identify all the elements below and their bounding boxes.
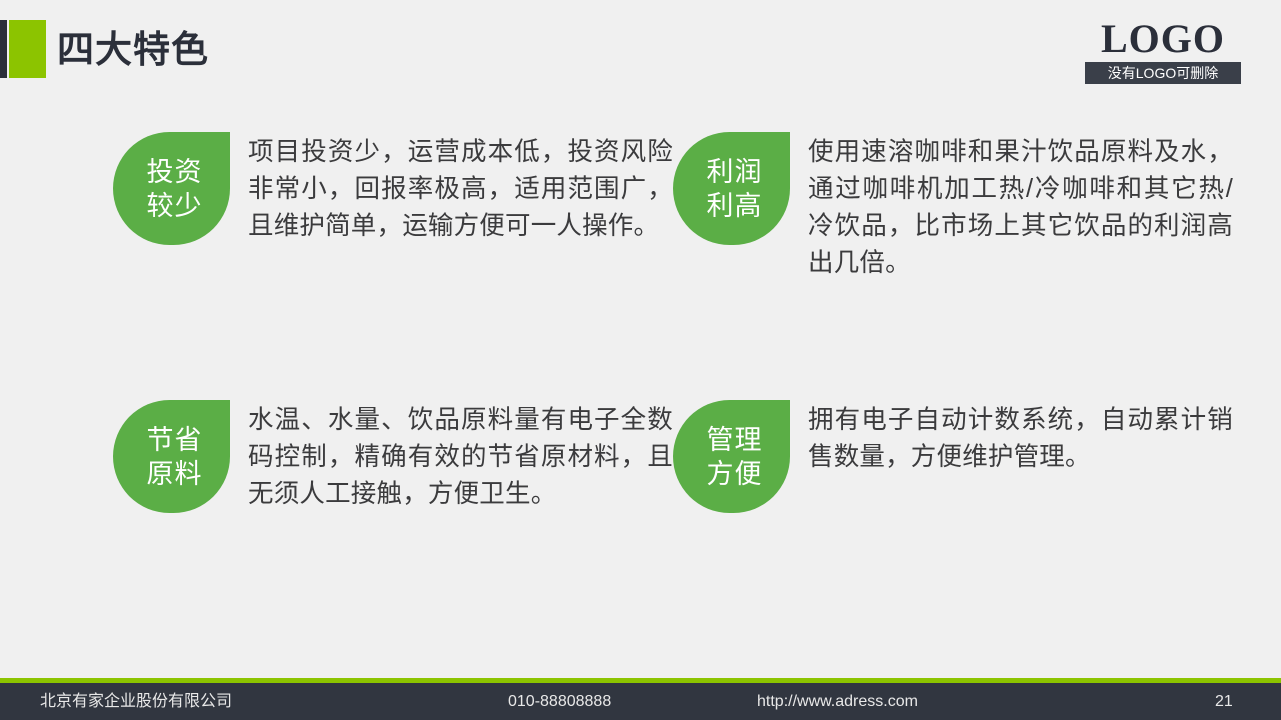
feature-description: 拥有电子自动计数系统，自动累计销售数量，方便维护管理。 [808,402,1233,476]
feature-grid: 投资 较少 项目投资少，运营成本低，投资风险非常小，回报率极高，适用范围广，且维… [0,118,1281,638]
logo-subtitle-badge: 没有LOGO可删除 [1085,62,1241,84]
logo-wordmark: LOGO [1085,18,1241,60]
title-green-accent-block [9,20,46,78]
feature-badge: 管理 方便 [673,400,790,513]
feature-description: 水温、水量、饮品原料量有电子全数码控制，精确有效的节省原材料，且无须人工接触，方… [248,402,673,513]
feature-badge: 利润 利高 [673,132,790,245]
feature-badge-line-2: 较少 [147,189,203,223]
footer-website-url[interactable]: http://www.adress.com [757,683,918,720]
slide-footer: 北京有家企业股份有限公司 010-88808888 http://www.adr… [0,678,1281,720]
feature-badge-line-1: 利润 [707,155,763,189]
footer-phone-number: 010-88808888 [508,683,611,720]
feature-badge: 投资 较少 [113,132,230,245]
slide-root: 四大特色 LOGO 没有LOGO可删除 投资 较少 项目投资少，运营成本低，投资… [0,0,1281,720]
footer-page-number: 21 [1215,683,1233,720]
logo: LOGO 没有LOGO可删除 [1085,18,1241,84]
feature-badge-line-2: 利高 [707,189,763,223]
feature-description: 使用速溶咖啡和果汁饮品原料及水，通过咖啡机加工热/冷咖啡和其它热/冷饮品，比市场… [808,134,1233,282]
slide-header: 四大特色 LOGO 没有LOGO可删除 [0,0,1281,96]
feature-badge-line-1: 节省 [147,423,203,457]
footer-company-name: 北京有家企业股份有限公司 [40,683,232,720]
page-title: 四大特色 [57,24,209,76]
feature-badge: 节省 原料 [113,400,230,513]
feature-badge-line-2: 方便 [707,457,763,491]
feature-item: 节省 原料 水温、水量、饮品原料量有电子全数码控制，精确有效的节省原材料，且无须… [113,400,673,513]
feature-item: 投资 较少 项目投资少，运营成本低，投资风险非常小，回报率极高，适用范围广，且维… [113,132,673,245]
feature-item: 利润 利高 使用速溶咖啡和果汁饮品原料及水，通过咖啡机加工热/冷咖啡和其它热/冷… [673,132,1233,282]
feature-description: 项目投资少，运营成本低，投资风险非常小，回报率极高，适用范围广，且维护简单，运输… [248,134,673,245]
feature-badge-line-2: 原料 [147,457,203,491]
title-dark-accent-bar [0,20,7,78]
feature-item: 管理 方便 拥有电子自动计数系统，自动累计销售数量，方便维护管理。 [673,400,1233,513]
feature-badge-line-1: 投资 [147,155,203,189]
feature-badge-line-1: 管理 [707,423,763,457]
